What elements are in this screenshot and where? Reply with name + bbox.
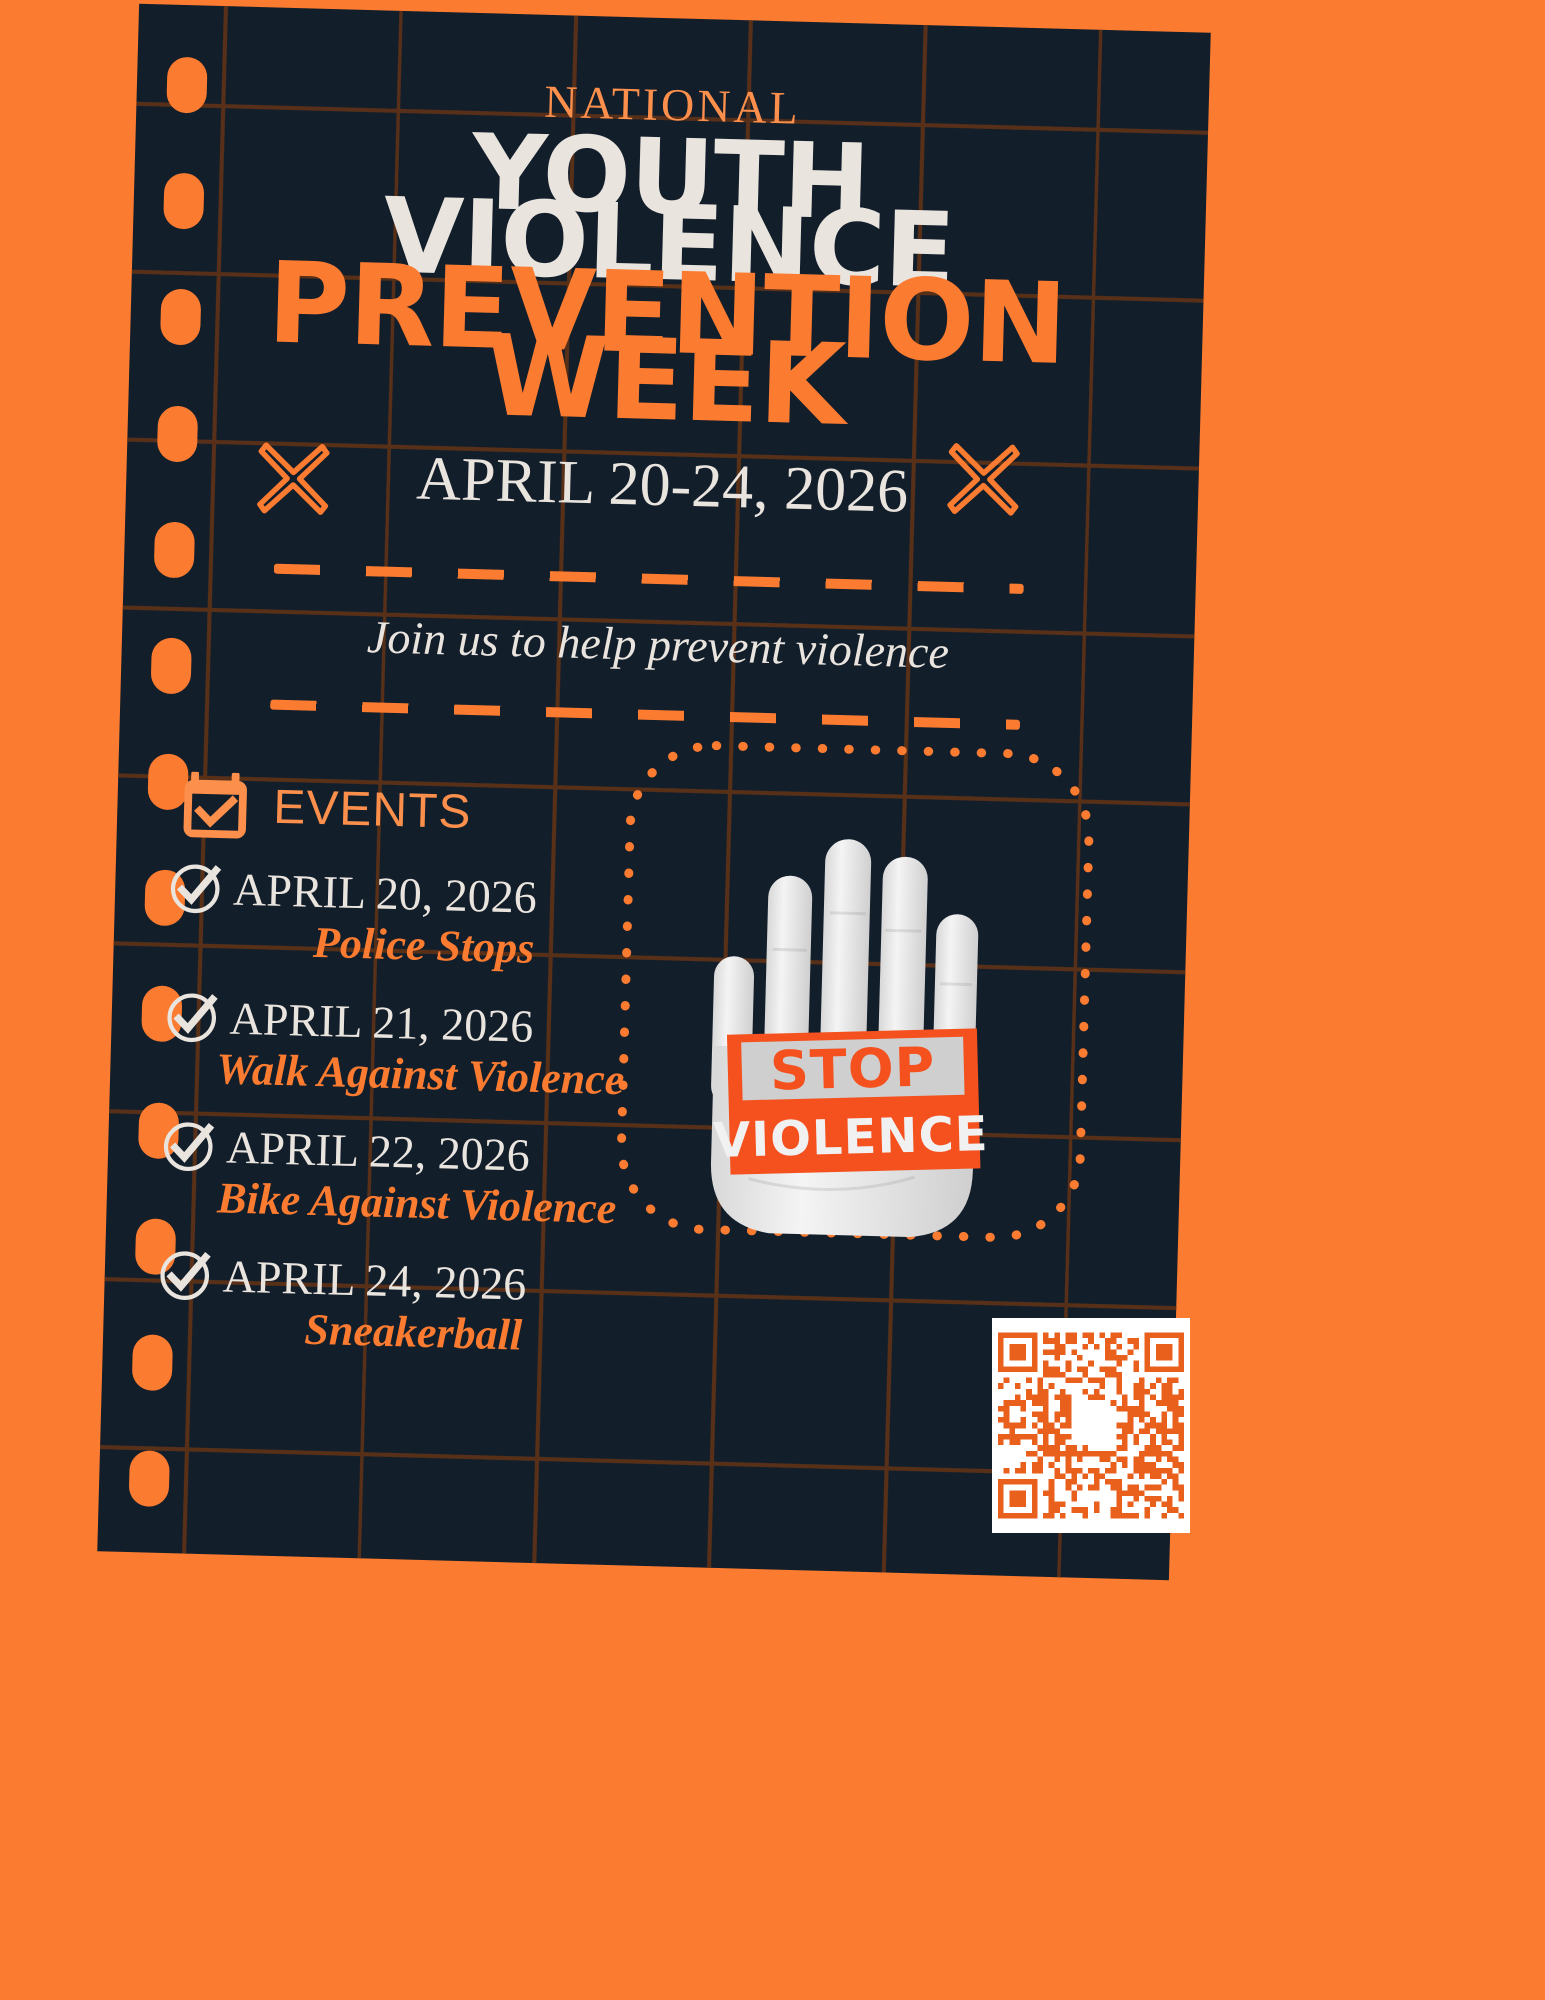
qr-code-image (998, 1324, 1184, 1527)
raised-hand-photo: STOP VIOLENCE (685, 777, 1028, 1256)
event-date: APRIL 20, 2026 (233, 862, 538, 923)
svg-text:VIOLENCE: VIOLENCE (713, 1106, 990, 1169)
qr-code[interactable] (992, 1318, 1190, 1533)
stop-violence-sign: STOP VIOLENCE (711, 1021, 993, 1181)
calendar-check-icon (178, 765, 258, 845)
event-dates: APRIL 20-24, 2026 (126, 436, 1200, 536)
event-date: APRIL 22, 2026 (226, 1120, 531, 1181)
hand-photo-block: STOP VIOLENCE (611, 735, 1099, 1248)
svg-text:STOP: STOP (769, 1035, 936, 1102)
event-date: APRIL 24, 2026 (222, 1249, 527, 1310)
list-item: APRIL 22, 2026 Bike Against Violence (156, 1115, 679, 1236)
events-heading: EVENTS (178, 765, 472, 851)
dashed-divider-top (274, 564, 1024, 594)
list-item: APRIL 21, 2026 Walk Against Violence (160, 986, 683, 1107)
list-item: APRIL 24, 2026 Sneakerball (153, 1244, 676, 1365)
tagline: Join us to help prevent violence (121, 604, 1194, 686)
events-label: EVENTS (273, 779, 472, 839)
check-circle-icon (161, 986, 223, 1048)
check-circle-icon (157, 1115, 219, 1177)
events-list: APRIL 20, 2026 Police Stops APRIL 21, 20… (152, 857, 686, 1387)
check-circle-icon (154, 1244, 216, 1306)
check-circle-icon (164, 857, 226, 919)
event-date: APRIL 21, 2026 (229, 991, 534, 1052)
list-item: APRIL 20, 2026 Police Stops (163, 857, 686, 978)
dashed-divider-bottom (270, 700, 1020, 730)
